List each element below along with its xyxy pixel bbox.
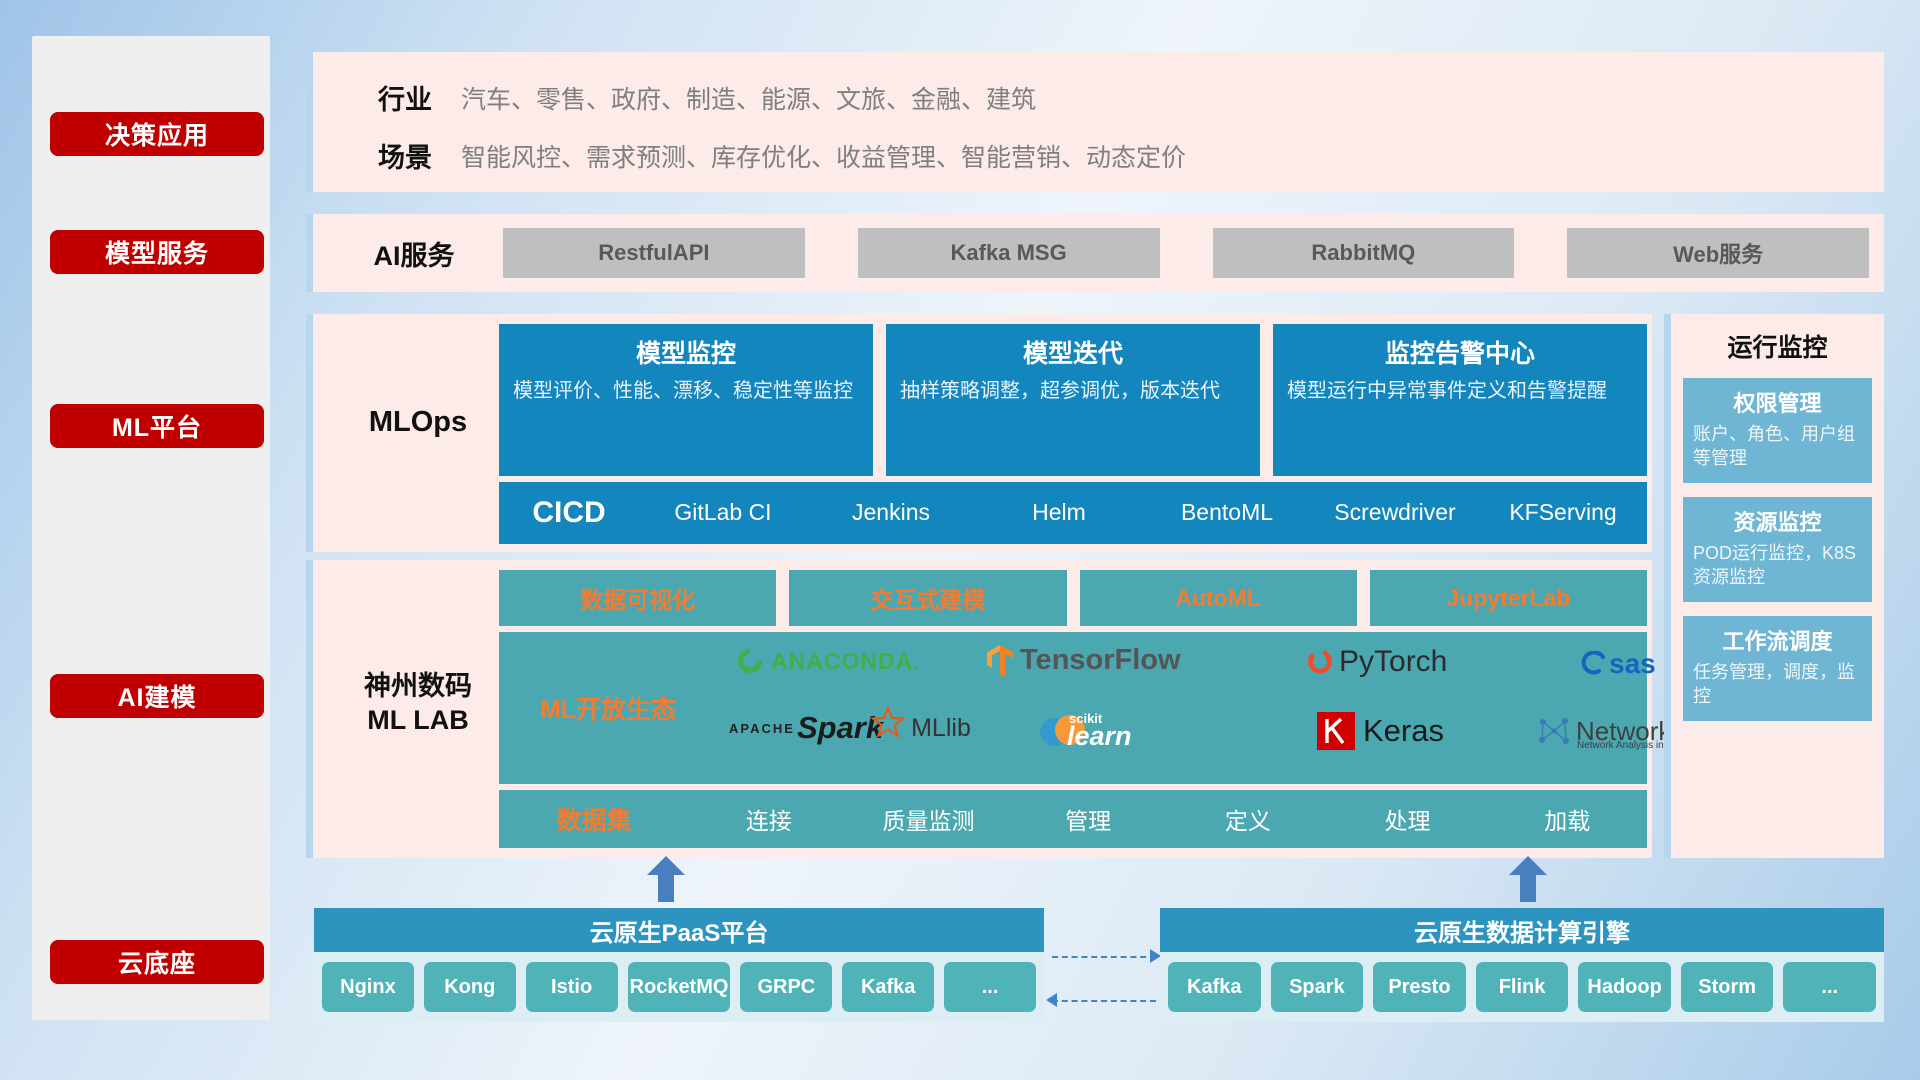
cloud-chip-rocketmq[interactable]: RocketMQ xyxy=(628,962,731,1012)
card-title: 工作流调度 xyxy=(1693,624,1862,656)
tensorflow-mark-icon xyxy=(987,645,1013,677)
sas-mark-icon xyxy=(1577,651,1607,677)
engine-up-arrow-icon xyxy=(1506,856,1550,902)
dataset-item-management[interactable]: 管理 xyxy=(1008,802,1168,836)
card-title: 资源监控 xyxy=(1693,505,1862,537)
anaconda-logo: ANACONDA. xyxy=(735,646,921,676)
ai-service-chip-rabbitmq[interactable]: RabbitMQ xyxy=(1213,228,1515,278)
sas-wordmark: sas xyxy=(1609,648,1656,680)
monitor-card-permission[interactable]: 权限管理 账户、角色、用户组等管理 xyxy=(1683,378,1872,483)
cicd-item-jenkins[interactable]: Jenkins xyxy=(807,499,975,527)
ml-lab-label: 神州数码 ML LAB xyxy=(339,670,497,738)
cloud-paas-chip-row: Nginx Kong Istio RocketMQ GRPC Kafka ... xyxy=(314,952,1044,1022)
mlops-band: MLOps 模型监控 模型评价、性能、漂移、稳定性等监控 模型迭代 抽样策略调整… xyxy=(306,314,1652,552)
tool-automl[interactable]: AutoML xyxy=(1080,570,1357,626)
cloud-chip-nginx[interactable]: Nginx xyxy=(322,962,414,1012)
card-description: 抽样策略调整，超参调优，版本迭代 xyxy=(900,378,1246,404)
cloud-paas-title: 云原生PaaS平台 xyxy=(314,908,1044,952)
ml-lab-label-line1: 神州数码 xyxy=(339,670,497,704)
anaconda-wordmark: ANACONDA. xyxy=(771,648,921,675)
cicd-item-gitlab-ci[interactable]: GitLab CI xyxy=(639,499,807,527)
cloud-engine-chip-row: Kafka Spark Presto Flink Hadoop Storm ..… xyxy=(1160,952,1884,1022)
ai-service-chip-web-service[interactable]: Web服务 xyxy=(1567,228,1869,278)
tensorflow-logo: TensorFlow xyxy=(987,644,1181,677)
card-description: 任务管理，调度，监控 xyxy=(1693,661,1862,709)
cicd-item-screwdriver[interactable]: Screwdriver xyxy=(1311,499,1479,527)
cloud-paas-group: 云原生PaaS平台 Nginx Kong Istio RocketMQ GRPC… xyxy=(314,908,1044,1022)
cloud-chip-istio[interactable]: Istio xyxy=(526,962,618,1012)
scenario-label: 场景 xyxy=(349,136,461,175)
dataset-item-connect[interactable]: 连接 xyxy=(689,802,849,836)
spark-star-icon xyxy=(871,705,905,739)
industry-label: 行业 xyxy=(349,78,461,117)
engine-chip-more[interactable]: ... xyxy=(1783,962,1876,1012)
stage-label: ML平台 xyxy=(112,408,202,444)
ml-lab-label-line2: ML LAB xyxy=(339,704,497,738)
dataset-bar: 数据集 连接 质量监测 管理 定义 处理 加载 xyxy=(499,790,1647,848)
stage-label: AI建模 xyxy=(117,678,196,714)
cloud-chip-more[interactable]: ... xyxy=(944,962,1036,1012)
ai-service-label: AI服务 xyxy=(349,234,479,273)
ml-ecosystem-label: ML开放生态 xyxy=(499,690,717,726)
stage-rail xyxy=(32,36,270,1020)
industry-scenario-band: 行业 汽车、零售、政府、制造、能源、文旅、金融、建筑 场景 智能风控、需求预测、… xyxy=(306,52,1884,192)
anaconda-mark-icon xyxy=(735,646,765,676)
spark-mllib-logo: APACHE Spark MLlib xyxy=(729,710,971,746)
pytorch-mark-icon xyxy=(1307,647,1333,677)
pytorch-logo: PyTorch xyxy=(1307,645,1447,679)
cloud-engine-title: 云原生数据计算引擎 xyxy=(1160,908,1884,952)
card-title: 权限管理 xyxy=(1693,386,1862,418)
ml-lab-tool-row: 数据可视化 交互式建模 AutoML JupyterLab xyxy=(499,570,1647,626)
stage-chip-model-service[interactable]: 模型服务 xyxy=(50,230,264,274)
tensorflow-wordmark: TensorFlow xyxy=(1020,644,1181,677)
scenario-row: 场景 智能风控、需求预测、库存优化、收益管理、智能营销、动态定价 xyxy=(349,136,1186,175)
dataset-item-definition[interactable]: 定义 xyxy=(1168,802,1328,836)
industry-row: 行业 汽车、零售、政府、制造、能源、文旅、金融、建筑 xyxy=(349,78,1036,117)
ml-ecosystem-logo-area: ANACONDA. TensorFlow PyTorch xyxy=(717,632,1647,784)
dataset-item-loading[interactable]: 加载 xyxy=(1487,802,1647,836)
ml-ecosystem-box: ML开放生态 ANACONDA. xyxy=(499,632,1647,784)
card-title: 监控告警中心 xyxy=(1287,334,1633,370)
ai-service-chip-kafka-msg[interactable]: Kafka MSG xyxy=(858,228,1160,278)
industry-values: 汽车、零售、政府、制造、能源、文旅、金融、建筑 xyxy=(461,80,1036,116)
monitor-card-resource[interactable]: 资源监控 POD运行监控，K8S资源监控 xyxy=(1683,497,1872,602)
cicd-item-helm[interactable]: Helm xyxy=(975,499,1143,527)
ai-service-chip-track: RestfulAPI Kafka MSG RabbitMQ Web服务 xyxy=(503,228,1869,278)
ai-service-chip-restfulapi[interactable]: RestfulAPI xyxy=(503,228,805,278)
card-description: 模型评价、性能、漂移、稳定性等监控 xyxy=(513,378,859,404)
card-title: 模型迭代 xyxy=(900,334,1246,370)
monitor-card-workflow[interactable]: 工作流调度 任务管理，调度，监控 xyxy=(1683,616,1872,721)
mlops-card-model-monitoring[interactable]: 模型监控 模型评价、性能、漂移、稳定性等监控 xyxy=(499,324,873,476)
keras-mark-icon xyxy=(1317,712,1355,750)
mllib-wordmark: MLlib xyxy=(911,714,971,743)
engine-chip-storm[interactable]: Storm xyxy=(1681,962,1774,1012)
stage-chip-ml-platform[interactable]: ML平台 xyxy=(50,404,264,448)
dataset-item-processing[interactable]: 处理 xyxy=(1328,802,1488,836)
ai-service-band: AI服务 RestfulAPI Kafka MSG RabbitMQ Web服务 xyxy=(306,214,1884,292)
cicd-item-bentoml[interactable]: BentoML xyxy=(1143,499,1311,527)
dataset-item-quality-monitoring[interactable]: 质量监测 xyxy=(849,802,1009,836)
engine-chip-kafka[interactable]: Kafka xyxy=(1168,962,1261,1012)
engine-chip-spark[interactable]: Spark xyxy=(1271,962,1364,1012)
stage-label: 决策应用 xyxy=(105,116,209,152)
cicd-item-kfserving[interactable]: KFServing xyxy=(1479,499,1647,527)
learn-wordmark: learn xyxy=(1067,721,1132,752)
arrow-head-left-icon xyxy=(1046,993,1057,1007)
scikit-learn-logo: scikit learn xyxy=(1039,710,1085,750)
tool-data-visualization[interactable]: 数据可视化 xyxy=(499,570,776,626)
engine-chip-flink[interactable]: Flink xyxy=(1476,962,1569,1012)
cloud-engine-group: 云原生数据计算引擎 Kafka Spark Presto Flink Hadoo… xyxy=(1160,908,1884,1022)
stage-label: 云底座 xyxy=(118,944,196,980)
cloud-chip-kong[interactable]: Kong xyxy=(424,962,516,1012)
ml-lab-band: 神州数码 ML LAB 数据可视化 交互式建模 AutoML JupyterLa… xyxy=(306,560,1652,858)
cicd-bar: CICD GitLab CI Jenkins Helm BentoML Scre… xyxy=(499,482,1647,544)
mlops-card-model-iteration[interactable]: 模型迭代 抽样策略调整，超参调优，版本迭代 xyxy=(886,324,1260,476)
spark-apache-text: APACHE xyxy=(729,721,795,736)
engine-chip-hadoop[interactable]: Hadoop xyxy=(1578,962,1671,1012)
paas-to-engine-dashed-line xyxy=(1052,956,1156,958)
tool-jupyterlab[interactable]: JupyterLab xyxy=(1370,570,1647,626)
keras-logo: Keras xyxy=(1317,712,1444,750)
paas-up-arrow-icon xyxy=(644,856,688,902)
architecture-diagram: 决策应用 模型服务 ML平台 AI建模 云底座 行业 汽车、零售、政府、制造、能… xyxy=(0,0,1920,1080)
card-description: 模型运行中异常事件定义和告警提醒 xyxy=(1287,378,1633,404)
stage-label: 模型服务 xyxy=(105,234,209,270)
engine-chip-presto[interactable]: Presto xyxy=(1373,962,1466,1012)
mlops-card-group: 模型监控 模型评价、性能、漂移、稳定性等监控 模型迭代 抽样策略调整，超参调优，… xyxy=(499,324,1647,476)
stage-chip-ai-modeling[interactable]: AI建模 xyxy=(50,674,264,718)
runtime-monitor-title: 运行监控 xyxy=(1671,328,1884,364)
keras-wordmark: Keras xyxy=(1363,713,1444,749)
cloud-chip-kafka[interactable]: Kafka xyxy=(842,962,934,1012)
stage-chip-cloud-foundation[interactable]: 云底座 xyxy=(50,940,264,984)
tool-interactive-modeling[interactable]: 交互式建模 xyxy=(789,570,1066,626)
cloud-chip-grpc[interactable]: GRPC xyxy=(740,962,832,1012)
cicd-title: CICD xyxy=(499,496,639,530)
stage-chip-decision-app[interactable]: 决策应用 xyxy=(50,112,264,156)
scenario-values: 智能风控、需求预测、库存优化、收益管理、智能营销、动态定价 xyxy=(461,138,1186,174)
sas-logo: sas xyxy=(1577,648,1656,680)
mlops-card-alert-center[interactable]: 监控告警中心 模型运行中异常事件定义和告警提醒 xyxy=(1273,324,1647,476)
card-description: POD运行监控，K8S资源监控 xyxy=(1693,542,1862,590)
networkx-mark-icon xyxy=(1537,714,1571,748)
card-description: 账户、角色、用户组等管理 xyxy=(1693,423,1862,471)
card-title: 模型监控 xyxy=(513,334,859,370)
engine-to-paas-dashed-line xyxy=(1052,1000,1156,1002)
runtime-monitor-band: 运行监控 权限管理 账户、角色、用户组等管理 资源监控 POD运行监控，K8S资… xyxy=(1664,314,1884,858)
mlops-label: MLOps xyxy=(343,406,493,439)
dataset-title: 数据集 xyxy=(499,801,689,837)
pytorch-wordmark: PyTorch xyxy=(1339,645,1447,679)
